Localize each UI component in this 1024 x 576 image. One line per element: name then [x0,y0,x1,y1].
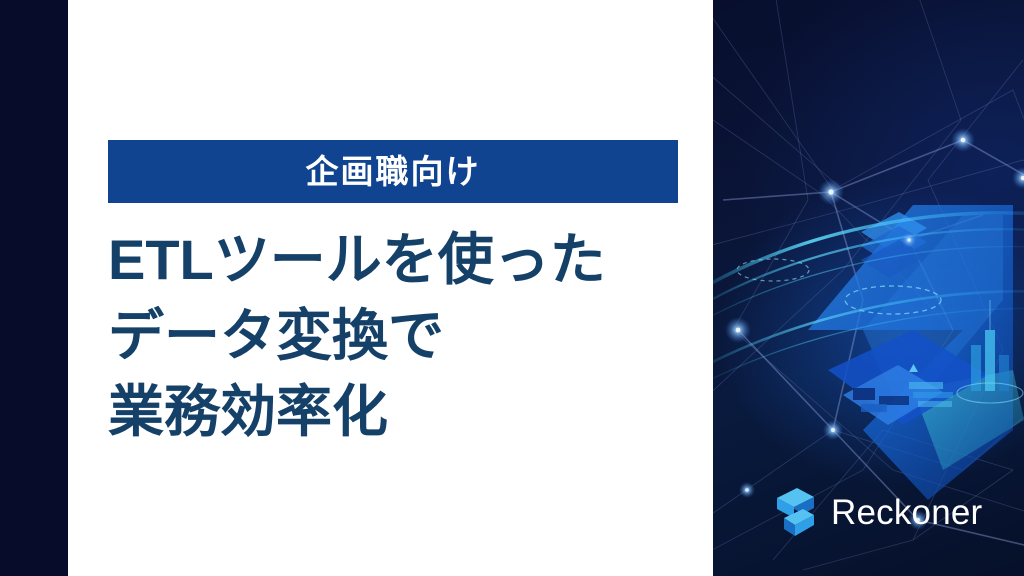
reckoner-logo: Reckoner [773,487,982,537]
audience-badge: 企画職向け [108,140,678,203]
headline-line-2: データ変換で [108,298,708,374]
left-accent-bar [0,0,68,576]
headline-line-1: ETLツールを使った [108,222,708,298]
slide-headline: ETLツールを使った データ変換で 業務効率化 [108,222,708,450]
content-column: 企画職向け ETLツールを使った データ変換で 業務効率化 [108,0,708,576]
logo-wordmark: Reckoner [831,495,982,530]
reckoner-cube-icon [773,487,818,537]
headline-line-3: 業務効率化 [108,374,708,450]
slide-canvas: Reckoner 企画職向け ETLツールを使った データ変換で 業務効率化 [0,0,1024,576]
audience-badge-label: 企画職向け [306,155,481,188]
tech-image-panel: Reckoner [713,0,1024,576]
